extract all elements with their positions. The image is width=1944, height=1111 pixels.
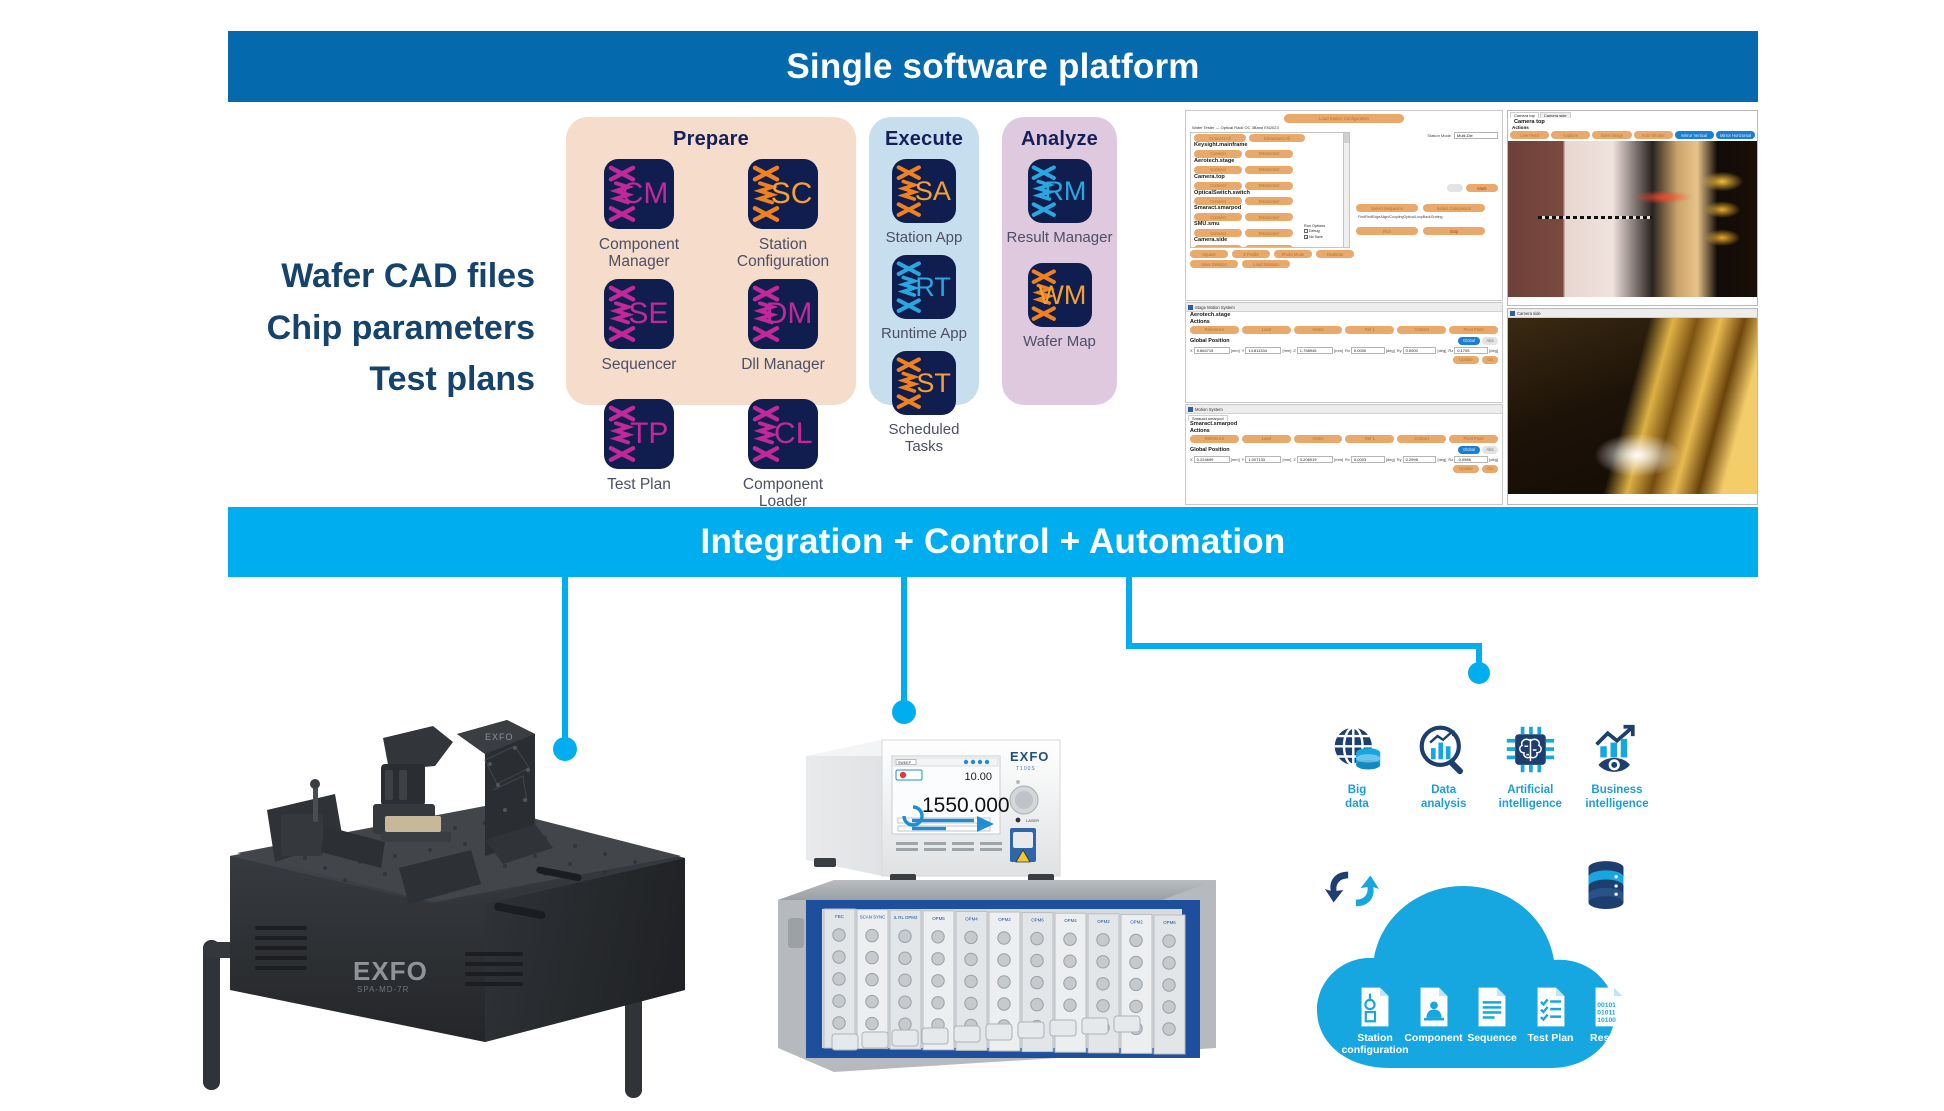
connect-button[interactable]: Connect bbox=[1194, 166, 1242, 174]
capability-business-intelligence: Business intelligence bbox=[1577, 722, 1657, 842]
camera-top-live-image bbox=[1508, 141, 1757, 297]
chassis-module-label: SCAN SYNC bbox=[860, 915, 886, 920]
cloud-file-label-sequence: Sequence bbox=[1467, 1032, 1517, 1044]
axis-unit: [deg] bbox=[1386, 457, 1395, 462]
input-label-chip-parameters: Chip parameters bbox=[150, 303, 535, 355]
connector-dot-cloud bbox=[1468, 662, 1490, 684]
app-tile-wm-icon[interactable]: WM bbox=[1028, 263, 1092, 327]
disconnect-all-button[interactable]: Disconnect All bbox=[1249, 134, 1305, 142]
cloud-file-station-configuration: Station configuration bbox=[1347, 986, 1403, 1056]
laser-brand-text: EXFO bbox=[1010, 749, 1049, 764]
station-app-window[interactable]: Load Station Configuration Wafer Tester … bbox=[1185, 110, 1503, 301]
disconnect-button[interactable]: Disconnect bbox=[1245, 213, 1293, 221]
cloud-file-test-plan: Test Plan bbox=[1523, 986, 1579, 1056]
device-row[interactable]: Camera.sideConnectDisconnect bbox=[1191, 238, 1349, 248]
device-list: Keysight.mainframeConnectDisconnectAerot… bbox=[1191, 143, 1349, 248]
sync-arrows-icon bbox=[1323, 860, 1381, 918]
camera-button-mirror-vertical[interactable]: Mirror Vertical bbox=[1675, 131, 1714, 139]
action-button-reference[interactable]: Reference bbox=[1190, 435, 1239, 443]
camera-side-window[interactable]: Camera side bbox=[1507, 308, 1758, 505]
axis-value-input[interactable]: 9.664715 bbox=[1194, 347, 1230, 354]
stage-action-buttons: ReferenceLoadHomeRef 1ContactPivot Point bbox=[1190, 326, 1498, 334]
run-options-label: Run Options bbox=[1304, 224, 1325, 228]
smarpod-position-label: Global Position bbox=[1190, 447, 1230, 453]
chassis-port bbox=[1031, 932, 1043, 944]
action-button-ref-1[interactable]: Ref 1 bbox=[1345, 326, 1394, 334]
stage-actions-label: Actions bbox=[1190, 319, 1498, 325]
tab-camera-top[interactable]: Camera top bbox=[1510, 112, 1539, 118]
app-tile-sa-icon[interactable]: SA bbox=[892, 159, 956, 223]
connector-line-cloud-vertical-1 bbox=[1126, 577, 1132, 649]
axis-unit: [deg] bbox=[1489, 457, 1498, 462]
results-binary-line-3: 10100 bbox=[1597, 1017, 1616, 1024]
laser-indicator-label: LASER bbox=[1026, 818, 1039, 823]
camera-button-mirror-horizontal[interactable]: Mirror Horizontal bbox=[1716, 131, 1755, 139]
select-sequence-button[interactable]: Select Sequence bbox=[1356, 204, 1418, 212]
chassis-port bbox=[866, 973, 878, 985]
chassis-port bbox=[1163, 979, 1175, 991]
chassis-port bbox=[833, 929, 845, 941]
axis-group-y: Y1.007133[mm] bbox=[1242, 456, 1292, 463]
app-abbr-sa: SA bbox=[915, 178, 956, 205]
chassis-port bbox=[866, 951, 878, 963]
stage-window-titlebar[interactable]: Stage Motion System bbox=[1186, 303, 1502, 312]
app-tile-st-icon[interactable]: ST bbox=[892, 351, 956, 415]
axis-value-input[interactable]: 14.811334 bbox=[1245, 347, 1281, 354]
app-tile-sc-icon[interactable]: SC bbox=[748, 159, 818, 229]
app-tile-dm-icon[interactable]: DM bbox=[748, 279, 818, 349]
axis-value-input[interactable]: 0.0000 bbox=[1403, 347, 1437, 354]
connect-button[interactable]: Connect bbox=[1194, 229, 1242, 237]
axis-unit: [mm] bbox=[1231, 348, 1240, 353]
photo-instrument-stack: SWEEP 10.00 1550.000 EXFO T100S LASER bbox=[770, 728, 1220, 1100]
app-st[interactable]: STScheduled Tasks bbox=[869, 351, 979, 456]
chassis-port bbox=[1031, 976, 1043, 988]
app-grid-analyze: RMResult ManagerWMWafer Map bbox=[1002, 159, 1117, 367]
input-label-wafer-cad-files: Wafer CAD files bbox=[150, 251, 535, 303]
chassis-port bbox=[899, 1018, 911, 1030]
database-stack-icon bbox=[1583, 858, 1629, 914]
app-abbr-rm: RM bbox=[1044, 178, 1091, 205]
chassis-port bbox=[965, 953, 977, 965]
chassis-port bbox=[1130, 934, 1142, 946]
station-configuration-file-icon bbox=[1358, 986, 1392, 1028]
axis-name: Rz bbox=[1448, 348, 1453, 353]
capability-big-data: Big data bbox=[1317, 722, 1397, 842]
axis-value-input[interactable]: 1.758945 bbox=[1297, 347, 1333, 354]
disconnect-button[interactable]: Disconnect bbox=[1245, 197, 1293, 205]
device-row[interactable]: Camera.topConnectDisconnect bbox=[1191, 175, 1349, 191]
capability-label-data-analysis: Data analysis bbox=[1421, 784, 1466, 811]
chassis-port bbox=[1097, 956, 1109, 968]
app-abbr-tp: TP bbox=[630, 419, 674, 449]
smarpod-window-title: Motion System bbox=[1195, 407, 1223, 412]
tab-camera-side[interactable]: Camera side bbox=[1540, 112, 1571, 118]
instrument-illustration: SWEEP 10.00 1550.000 EXFO T100S LASER bbox=[770, 728, 1220, 1100]
axis-name: Rz bbox=[1448, 457, 1453, 462]
axis-name: Rx bbox=[1345, 348, 1350, 353]
axis-group-ry: Ry0.2998[deg] bbox=[1397, 456, 1447, 463]
device-list-scrollbar[interactable] bbox=[1343, 133, 1349, 247]
app-cm[interactable]: CMComponent Manager bbox=[580, 159, 698, 272]
app-label-sc: Station Configuration bbox=[724, 236, 842, 272]
device-row[interactable]: SMU.smuConnectDisconnect bbox=[1191, 222, 1349, 238]
smarpod-motion-window[interactable]: Motion System Smaract.smarpod Smaract.sm… bbox=[1185, 404, 1503, 505]
action-button-load[interactable]: Load bbox=[1242, 326, 1291, 334]
mark-button[interactable]: Mark bbox=[1466, 184, 1498, 192]
smarpod-go-button[interactable]: Go bbox=[1482, 465, 1498, 473]
app-abbr-se: SE bbox=[628, 299, 674, 329]
app-sa[interactable]: SAStation App bbox=[869, 159, 979, 249]
app-abbr-cm: CM bbox=[622, 179, 674, 209]
chassis-port bbox=[833, 1017, 845, 1029]
cloud-file-component: Component bbox=[1406, 986, 1462, 1056]
chassis-port bbox=[833, 973, 845, 985]
connect-button[interactable]: Connect bbox=[1194, 197, 1242, 205]
axis-value-input[interactable]: 1.007133 bbox=[1245, 456, 1281, 463]
app-tp[interactable]: TPTest Plan bbox=[580, 399, 698, 512]
axis-unit: [mm] bbox=[1334, 348, 1343, 353]
chassis-module-label: IL RL OPM2 bbox=[894, 915, 918, 920]
camera-top-window[interactable]: Camera top Camera side Camera top Action… bbox=[1507, 110, 1758, 306]
laser-wavelength-value: 1550.000 bbox=[922, 794, 1010, 817]
results-binary-line-1: 00101 bbox=[1597, 1002, 1616, 1009]
top-banner-single-software-platform: Single software platform bbox=[228, 31, 1758, 102]
app-grid-prepare: CMComponent ManagerSCStation Configurati… bbox=[566, 159, 856, 519]
axis-value-input[interactable]: -0.0988 bbox=[1454, 456, 1488, 463]
connect-all-button[interactable]: Connect All bbox=[1194, 134, 1246, 142]
axis-group-rx: Rx0.0000[deg] bbox=[1345, 347, 1395, 354]
axis-group-rz: Rz0.1705[deg] bbox=[1448, 347, 1498, 354]
app-tile-se-icon[interactable]: SE bbox=[604, 279, 674, 349]
axis-name: Y bbox=[1242, 457, 1245, 462]
chassis-port bbox=[932, 953, 944, 965]
action-button-reference[interactable]: Reference bbox=[1190, 326, 1239, 334]
axis-value-input[interactable]: 0.2998 bbox=[1403, 456, 1437, 463]
action-button-home[interactable]: Home bbox=[1294, 435, 1343, 443]
action-button-load[interactable]: Load bbox=[1242, 435, 1291, 443]
connect-button[interactable]: Connect bbox=[1194, 245, 1242, 248]
axis-value-input[interactable]: 0.224699 bbox=[1194, 456, 1230, 463]
action-button-pivot-point[interactable]: Pivot Point bbox=[1449, 326, 1498, 334]
chassis-port bbox=[1097, 1000, 1109, 1012]
app-label-dm: Dll Manager bbox=[741, 356, 825, 392]
stage-window-title: Stage Motion System bbox=[1195, 305, 1235, 310]
capability-label-artificial-intelligence: Artificial intelligence bbox=[1499, 784, 1562, 811]
app-sc[interactable]: SCStation Configuration bbox=[724, 159, 842, 272]
chassis-module-label: OPM2 bbox=[1130, 919, 1143, 924]
trend-eye-icon bbox=[1589, 722, 1645, 778]
action-button-ref-1[interactable]: Ref 1 bbox=[1345, 435, 1394, 443]
stage-axis-fields: X9.664715[mm]Y14.811334[mm]Z1.758945[mm]… bbox=[1190, 347, 1498, 354]
photo-probe-station: EXFO EXFO SPA-MD-7R bbox=[185, 690, 705, 1100]
laser-model-text: T100S bbox=[1016, 766, 1036, 772]
smarpod-window-titlebar[interactable]: Motion System bbox=[1186, 405, 1502, 414]
chassis-port bbox=[1097, 934, 1109, 946]
cloud-storage-group: Station configuration Component bbox=[1295, 858, 1685, 1088]
probe-station-model-text: SPA-MD-7R bbox=[357, 985, 409, 994]
axis-group-z: Z1.758945[mm] bbox=[1293, 347, 1343, 354]
axis-name: Y bbox=[1242, 348, 1245, 353]
database-cylinder bbox=[1356, 748, 1380, 769]
stage-update-button[interactable]: Update bbox=[1453, 356, 1479, 364]
chassis-port bbox=[866, 995, 878, 1007]
chassis-port bbox=[998, 954, 1010, 966]
stage-motion-window[interactable]: Stage Motion System Aerotech.stage Actio… bbox=[1185, 302, 1503, 403]
chassis-module-label: OPM6 bbox=[1163, 920, 1176, 925]
smarpod-update-button[interactable]: Update bbox=[1453, 465, 1479, 473]
input-sources-list: Wafer CAD files Chip parameters Test pla… bbox=[150, 251, 535, 406]
load-station-configuration-button[interactable]: Load Station Configuration bbox=[1284, 114, 1404, 123]
chassis-port bbox=[1064, 955, 1076, 967]
app-rm[interactable]: RMResult Manager bbox=[1002, 159, 1117, 249]
chassis-port bbox=[1130, 956, 1142, 968]
axis-name: Z bbox=[1293, 348, 1295, 353]
camera-button-capture[interactable]: Capture bbox=[1551, 131, 1590, 139]
smarpod-action-buttons: ReferenceLoadHomeRef 1ContactPivot Point bbox=[1190, 435, 1498, 443]
axis-value-input[interactable]: 0.206919 bbox=[1297, 456, 1333, 463]
camera-side-titlebar[interactable]: Camera side bbox=[1508, 309, 1757, 318]
probe-station-brand-text: EXFO bbox=[353, 956, 428, 986]
axis-unit: [deg] bbox=[1489, 348, 1498, 353]
chassis-port bbox=[1031, 954, 1043, 966]
chassis-module-label: FBC bbox=[835, 914, 844, 919]
action-button-home[interactable]: Home bbox=[1294, 326, 1343, 334]
camera-side-live-image bbox=[1508, 318, 1757, 494]
chassis-port bbox=[899, 952, 911, 964]
app-tile-rt-icon[interactable]: RT bbox=[892, 255, 956, 319]
capability-data-analysis: Data analysis bbox=[1404, 722, 1484, 842]
cloud-file-sequence: Sequence bbox=[1464, 986, 1520, 1056]
smarpod-global-button[interactable]: Global bbox=[1458, 446, 1480, 454]
stage-abs-button[interactable]: Abs bbox=[1482, 337, 1498, 345]
smarpod-axis-fields: X0.224699[mm]Y1.007133[mm]Z0.206919[mm]R… bbox=[1190, 456, 1498, 463]
app-abbr-dm: DM bbox=[766, 299, 818, 329]
smarpod-abs-button[interactable]: Abs bbox=[1482, 446, 1498, 454]
connect-button[interactable]: Connect bbox=[1194, 182, 1242, 190]
run-button[interactable]: Run bbox=[1356, 227, 1418, 235]
axis-unit: [mm] bbox=[1231, 457, 1240, 462]
connector-line-laser-vertical bbox=[901, 577, 907, 717]
realtime-button[interactable]: Realtime bbox=[1316, 250, 1354, 258]
cloud-file-label-component: Component bbox=[1404, 1032, 1462, 1044]
chassis-module-label: OPM6 bbox=[1031, 918, 1044, 923]
axis-value-input[interactable]: 0.1705 bbox=[1454, 347, 1488, 354]
smarpod-tabs[interactable]: Smaract.smarpod bbox=[1186, 414, 1502, 421]
chassis-port bbox=[1064, 977, 1076, 989]
cloud-file-label-test-plan: Test Plan bbox=[1528, 1032, 1574, 1044]
app-rt[interactable]: RTRuntime App bbox=[869, 255, 979, 345]
device-row[interactable]: Aerotech.stageConnectDisconnect bbox=[1191, 159, 1349, 175]
chassis-port bbox=[1163, 935, 1175, 947]
axis-unit: [deg] bbox=[1386, 348, 1395, 353]
capability-icon-row: Big data Data analysis bbox=[1317, 722, 1657, 842]
chassis-port bbox=[998, 932, 1010, 944]
app-abbr-cl: CL bbox=[774, 419, 818, 449]
chassis-port bbox=[899, 930, 911, 942]
action-button-pivot-point[interactable]: Pivot Point bbox=[1449, 435, 1498, 443]
window-icon bbox=[1188, 305, 1193, 310]
axis-group-z: Z0.206919[mm] bbox=[1293, 456, 1343, 463]
chip-brain-icon bbox=[1502, 722, 1558, 778]
component-file-icon bbox=[1417, 986, 1451, 1028]
connect-button[interactable]: Connect bbox=[1194, 150, 1242, 158]
disconnect-button[interactable]: Disconnect bbox=[1245, 166, 1293, 174]
group-title-prepare: Prepare bbox=[673, 128, 749, 151]
app-label-cm: Component Manager bbox=[580, 236, 698, 272]
station-mode-label: Station Mode bbox=[1427, 133, 1451, 138]
window-icon bbox=[1188, 407, 1193, 412]
disconnect-button[interactable]: Disconnect bbox=[1245, 229, 1293, 237]
square-button[interactable]: Square bbox=[1190, 250, 1228, 258]
test-plan-file-icon bbox=[1534, 986, 1568, 1028]
camera-button-save-image[interactable]: Save Image bbox=[1592, 131, 1631, 139]
app-label-st: Scheduled Tasks bbox=[869, 422, 979, 456]
axis-value-input[interactable]: 0.0000 bbox=[1351, 347, 1385, 354]
app-tile-cl-icon[interactable]: CL bbox=[748, 399, 818, 469]
mark-small-button[interactable] bbox=[1447, 184, 1463, 192]
capability-artificial-intelligence: Artificial intelligence bbox=[1490, 722, 1570, 842]
app-label-rt: Runtime App bbox=[881, 326, 967, 345]
app-cl[interactable]: CLComponent Loader bbox=[724, 399, 842, 512]
connector-dot-laser bbox=[892, 700, 916, 724]
device-row[interactable]: OpticalSwitch.switchConnectDisconnect bbox=[1191, 191, 1349, 207]
chassis-port bbox=[965, 997, 977, 1009]
input-label-test-plans: Test plans bbox=[150, 354, 535, 406]
results-file-icon: 00101 01011 10100 bbox=[1592, 986, 1626, 1028]
chassis-port bbox=[932, 931, 944, 943]
z-profile-button[interactable]: Z Profile bbox=[1232, 250, 1270, 258]
chassis-port bbox=[1130, 978, 1142, 990]
axis-name: X bbox=[1190, 348, 1193, 353]
group-title-analyze: Analyze bbox=[1021, 128, 1098, 151]
axis-group-ry: Ry0.0000[deg] bbox=[1397, 347, 1447, 354]
camera-top-buttons: Live FeedCaptureSave ImageAuto ShutterMi… bbox=[1508, 130, 1757, 141]
stage-global-button[interactable]: Global bbox=[1458, 337, 1480, 345]
axis-name: Z bbox=[1293, 457, 1295, 462]
load-session-button[interactable]: Load Session bbox=[1242, 260, 1290, 268]
cloud-file-label-results: Results bbox=[1590, 1032, 1628, 1044]
axis-group-rz: Rz-0.0988[deg] bbox=[1448, 456, 1498, 463]
stage-position-label: Global Position bbox=[1190, 338, 1230, 344]
camera-top-tabs[interactable]: Camera top Camera side bbox=[1508, 111, 1757, 118]
app-abbr-rt: RT bbox=[915, 274, 956, 301]
axis-group-y: Y14.811334[mm] bbox=[1242, 347, 1292, 354]
cloud-file-label-station-configuration: Station configuration bbox=[1341, 1032, 1408, 1056]
chassis-port bbox=[1163, 1001, 1175, 1013]
device-name: Keysight.mainframe bbox=[1194, 143, 1346, 149]
debug-checkbox[interactable]: Debug bbox=[1304, 229, 1320, 233]
device-row[interactable]: Keysight.mainframeConnectDisconnect bbox=[1191, 143, 1349, 159]
window-icon bbox=[1510, 311, 1515, 316]
disconnect-button[interactable]: Disconnect bbox=[1245, 245, 1293, 248]
app-tile-tp-icon[interactable]: TP bbox=[604, 399, 674, 469]
app-tile-cm-icon[interactable]: CM bbox=[604, 159, 674, 229]
select-component-button[interactable]: Select Component bbox=[1423, 204, 1485, 212]
chassis-port bbox=[1130, 1000, 1142, 1012]
stop-button[interactable]: Stop bbox=[1423, 227, 1485, 235]
chassis-module-label: OPM4 bbox=[965, 916, 978, 921]
camera-button-live-feed[interactable]: Live Feed bbox=[1510, 131, 1549, 139]
diagram-canvas: Single software platform Wafer CAD files… bbox=[0, 0, 1944, 1111]
app-label-rm: Result Manager bbox=[1007, 230, 1113, 249]
bottom-banner-integration-control-automation: Integration + Control + Automation bbox=[228, 507, 1758, 577]
app-abbr-sc: SC bbox=[771, 179, 818, 209]
chassis-port bbox=[899, 974, 911, 986]
app-group-prepare: Prepare CMComponent ManagerSCStation Con… bbox=[566, 117, 856, 405]
device-name: Camera.top bbox=[1194, 175, 1346, 181]
axis-value-input[interactable]: 0.0003 bbox=[1351, 456, 1385, 463]
chassis-module-label: OPM2 bbox=[998, 917, 1011, 922]
connect-button[interactable]: Connect bbox=[1194, 213, 1242, 221]
device-row[interactable]: Smaract.smarpodConnectDisconnect bbox=[1191, 206, 1349, 222]
capability-label-big-data: Big data bbox=[1345, 784, 1369, 811]
stage-go-button[interactable]: Go bbox=[1482, 356, 1498, 364]
chassis-port bbox=[965, 975, 977, 987]
app-group-execute: Execute SAStation AppRTRuntime AppSTSche… bbox=[869, 117, 979, 405]
software-screenshot-collage: Load Station Configuration Wafer Tester … bbox=[1185, 110, 1758, 505]
camera-button-auto-shutter[interactable]: Auto Shutter bbox=[1634, 131, 1673, 139]
chassis-port bbox=[866, 1017, 878, 1029]
chassis-port bbox=[1163, 957, 1175, 969]
app-label-wm: Wafer Map bbox=[1023, 334, 1096, 353]
disconnect-button[interactable]: Disconnect bbox=[1245, 150, 1293, 158]
axis-unit: [deg] bbox=[1437, 457, 1446, 462]
app-tile-rm-icon[interactable]: RM bbox=[1028, 159, 1092, 223]
connector-line-cloud-horizontal bbox=[1126, 643, 1482, 649]
app-group-analyze: Analyze RMResult ManagerWMWafer Map bbox=[1002, 117, 1117, 405]
axis-name: Rx bbox=[1345, 457, 1350, 462]
station-mode-select[interactable]: Multi-Die bbox=[1454, 132, 1498, 139]
cloud-file-results: 00101 01011 10100 Results bbox=[1581, 986, 1637, 1056]
axis-group-x: X9.664715[mm] bbox=[1190, 347, 1240, 354]
results-binary-line-2: 01011 bbox=[1597, 1010, 1616, 1017]
photo-mode-button[interactable]: Photo Mode bbox=[1274, 250, 1312, 258]
save-session-button[interactable]: Save Session bbox=[1190, 260, 1238, 268]
app-wm[interactable]: WMWafer Map bbox=[1002, 263, 1117, 353]
app-abbr-wm: WM bbox=[1038, 282, 1091, 309]
capability-label-business-intelligence: Business intelligence bbox=[1585, 784, 1648, 811]
selection-path-label: FindFirstEdgeAlign/CouplingOpticalLoopBa… bbox=[1358, 215, 1420, 219]
app-label-sa: Station App bbox=[886, 230, 963, 249]
app-dm[interactable]: DMDll Manager bbox=[724, 279, 842, 392]
chassis-port bbox=[1163, 1023, 1175, 1035]
camera-side-title: Camera side bbox=[1517, 311, 1541, 316]
globe-database-icon bbox=[1329, 722, 1385, 778]
axis-group-rx: Rx0.0003[deg] bbox=[1345, 456, 1395, 463]
chassis-module-label: OPM2 bbox=[1097, 919, 1110, 924]
chassis-port bbox=[998, 976, 1010, 988]
chassis-port bbox=[833, 951, 845, 963]
axis-unit: [mm] bbox=[1282, 348, 1291, 353]
group-title-execute: Execute bbox=[885, 128, 963, 151]
app-se[interactable]: SESequencer bbox=[580, 279, 698, 392]
device-name: Aerotech.stage bbox=[1194, 159, 1346, 165]
chassis-module-label: OPM4 bbox=[1064, 918, 1077, 923]
device-name: Camera.side bbox=[1194, 238, 1346, 244]
action-button-contact[interactable]: Contact bbox=[1397, 435, 1446, 443]
chassis-port bbox=[833, 995, 845, 1007]
action-button-contact[interactable]: Contact bbox=[1397, 326, 1446, 334]
probe-station-illustration: EXFO EXFO SPA-MD-7R bbox=[185, 690, 705, 1100]
disconnect-button[interactable]: Disconnect bbox=[1245, 182, 1293, 190]
no-save-checkbox[interactable]: ✓ No Save bbox=[1304, 235, 1323, 239]
chassis-port bbox=[998, 998, 1010, 1010]
axis-unit: [mm] bbox=[1282, 457, 1291, 462]
chassis-port bbox=[899, 996, 911, 1008]
chassis-port bbox=[866, 929, 878, 941]
chassis-port bbox=[1031, 998, 1043, 1010]
